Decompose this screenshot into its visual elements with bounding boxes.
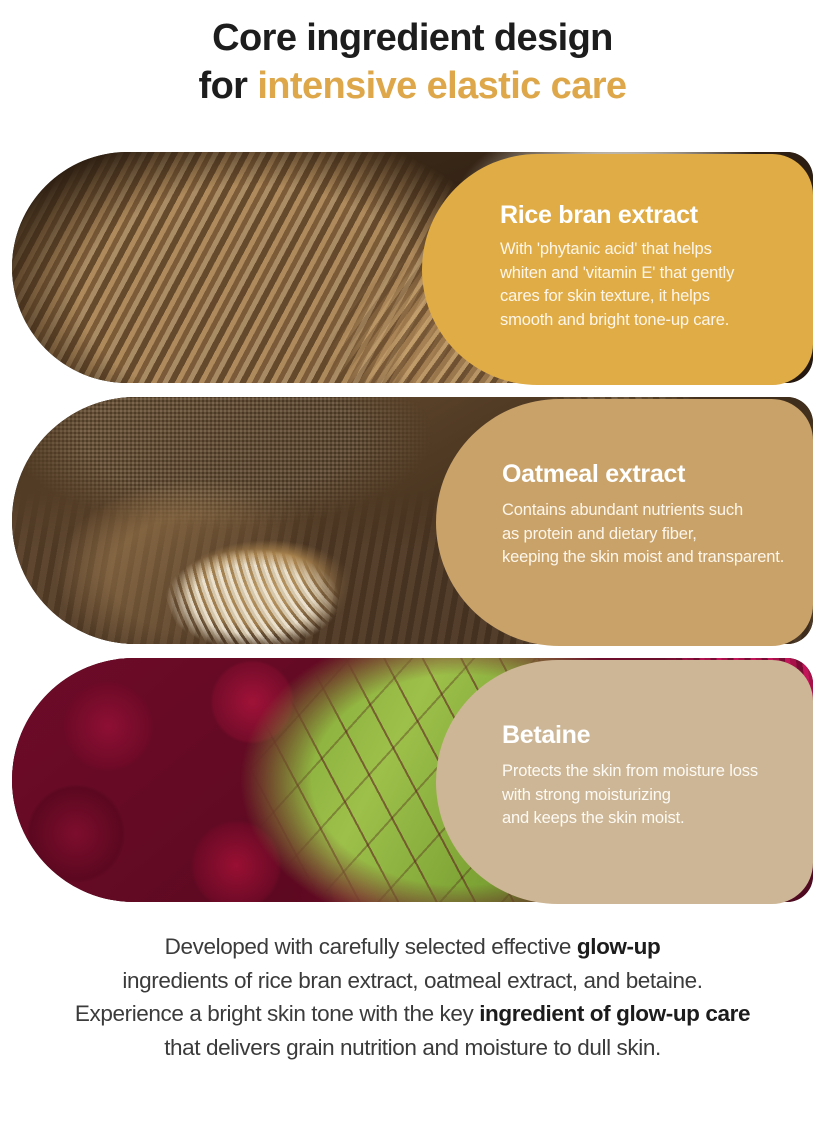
page-title: Core ingredient design for intensive ela… xyxy=(0,14,825,110)
title-line-2-prefix: for xyxy=(199,65,258,107)
ingredient-card-betaine: Betaine Protects the skin from moisture … xyxy=(12,658,813,902)
summary-line-4: that delivers grain nutrition and moistu… xyxy=(0,1031,825,1065)
card-description: Protects the skin from moisture loss wit… xyxy=(502,760,799,831)
card-title: Oatmeal extract xyxy=(502,459,799,489)
summary-line-3-text: Experience a bright skin tone with the k… xyxy=(75,1001,479,1026)
oatmeal-info-panel: Oatmeal extract Contains abundant nutrie… xyxy=(436,399,813,646)
ingredient-card-rice-bran: Rice bran extract With 'phytanic acid' t… xyxy=(12,152,813,383)
summary-glow-up-emphasis: glow-up xyxy=(577,934,660,959)
betaine-info-panel: Betaine Protects the skin from moisture … xyxy=(436,660,813,904)
ingredient-card-oatmeal: Oatmeal extract Contains abundant nutrie… xyxy=(12,397,813,644)
summary-key-ingredient-emphasis: ingredient of glow-up care xyxy=(479,1001,750,1026)
ingredient-card-list: Rice bran extract With 'phytanic acid' t… xyxy=(12,152,813,916)
card-description: Contains abundant nutrients such as prot… xyxy=(502,499,799,570)
summary-line-1: Developed with carefully selected effect… xyxy=(0,930,825,964)
card-title: Rice bran extract xyxy=(500,200,791,230)
card-description: With 'phytanic acid' that helps whiten a… xyxy=(500,238,791,332)
summary-paragraph: Developed with carefully selected effect… xyxy=(0,930,825,1064)
card-title: Betaine xyxy=(502,720,799,750)
title-line-2: for intensive elastic care xyxy=(0,62,825,110)
rice-bran-info-panel: Rice bran extract With 'phytanic acid' t… xyxy=(422,154,813,385)
summary-line-2: ingredients of rice bran extract, oatmea… xyxy=(0,964,825,998)
infographic-page: Core ingredient design for intensive ela… xyxy=(0,0,825,1125)
summary-line-1-text: Developed with carefully selected effect… xyxy=(165,934,577,959)
title-accent-text: intensive elastic care xyxy=(257,65,626,107)
title-line-1: Core ingredient design xyxy=(0,14,825,62)
summary-line-3: Experience a bright skin tone with the k… xyxy=(0,997,825,1031)
